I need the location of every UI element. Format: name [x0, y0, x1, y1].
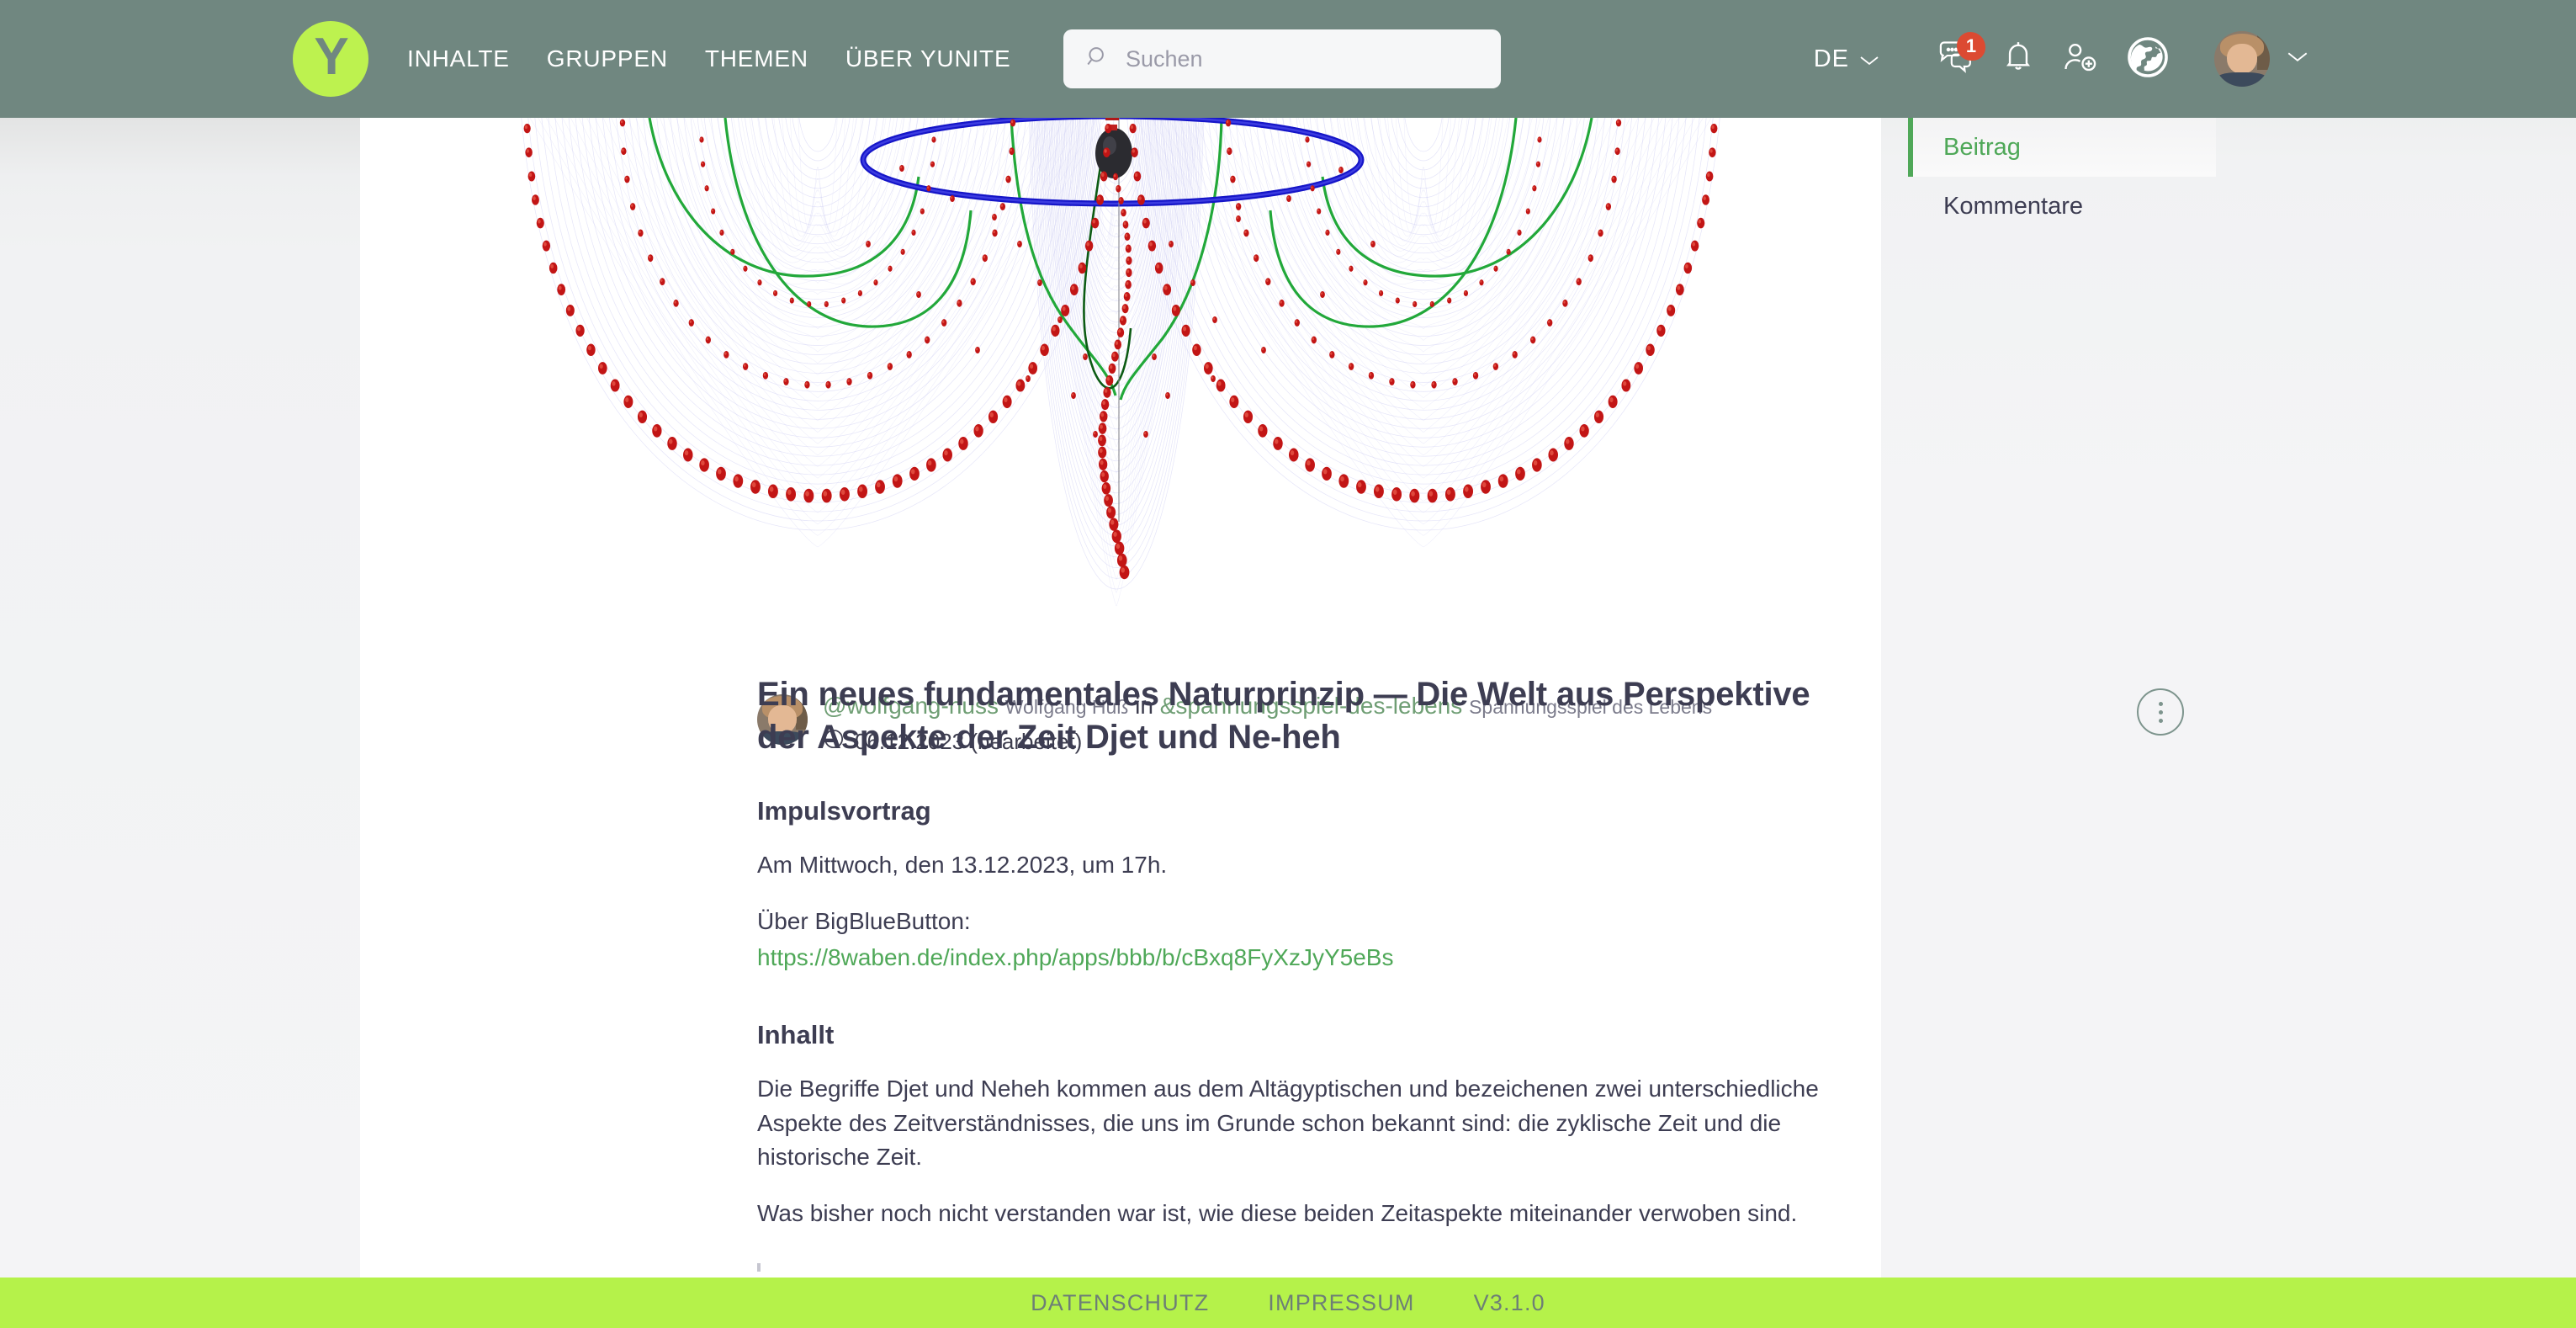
paragraph-bbb-link: https://8waben.de/index.php/apps/bbb/b/c…: [757, 941, 1869, 975]
sidebar-item-label: Kommentare: [1943, 193, 2083, 220]
user-menu[interactable]: [2214, 31, 2308, 87]
sidebar-item-label: Beitrag: [1943, 134, 2021, 162]
footer-link-datenschutz[interactable]: DATENSCHUTZ: [1031, 1290, 1209, 1316]
paragraph-verwoben: Was bisher noch nicht verstanden war ist…: [757, 1197, 1869, 1231]
chevron-down-icon: [1859, 45, 1879, 73]
post-content-card: @wolfgang-huss Wolfgang Huß in &spannung…: [360, 118, 1881, 1294]
footer-version: V3.1.0: [1474, 1290, 1545, 1316]
post-image: [360, 118, 1881, 619]
notifications-button[interactable]: [1987, 0, 2049, 118]
logo-glyph: Y: [314, 31, 347, 83]
search-icon: [1085, 45, 1110, 74]
sidebar-item-beitrag[interactable]: Beitrag: [1908, 118, 2216, 177]
messages-badge: 1: [1957, 32, 1985, 61]
nav-inhalte[interactable]: INHALTE: [407, 45, 510, 72]
post-article: Ein neues fundamentales Naturprinzip — D…: [757, 673, 1869, 1328]
globe-icon: [2126, 35, 2170, 83]
heading-impulsvortrag: Impulsvortrag: [757, 796, 1869, 826]
post-more-options-button[interactable]: [2137, 688, 2184, 736]
sidebar-item-kommentare[interactable]: Kommentare: [1908, 177, 2245, 236]
left-gutter: [0, 118, 360, 1294]
bell-icon: [2004, 40, 2033, 78]
chevron-down-icon: [2287, 50, 2308, 67]
add-contact-button[interactable]: [2049, 0, 2112, 118]
heading-inhalt: Inhallt: [757, 1020, 1869, 1050]
page-title: Ein neues fundamentales Naturprinzip — D…: [757, 673, 1869, 759]
visualization-svg: [360, 118, 1881, 619]
site-footer: DATENSCHUTZ IMPRESSUM V3.1.0: [0, 1278, 2576, 1328]
search-box[interactable]: [1063, 29, 1501, 88]
globe-button[interactable]: [2112, 0, 2184, 118]
add-user-icon: [2063, 41, 2098, 77]
paragraph-djet-neheh: Die Begriffe Djet und Neheh kommen aus d…: [757, 1072, 1869, 1175]
page-body: @wolfgang-huss Wolfgang Huß in &spannung…: [0, 118, 2576, 1294]
main-nav: INHALTE GRUPPEN THEMEN ÜBER YUNITE: [407, 0, 1010, 118]
paragraph-bbb-label: Über BigBlueButton:: [757, 905, 1869, 939]
footer-link-impressum[interactable]: IMPRESSUM: [1268, 1290, 1414, 1316]
header-actions: DE 1: [1814, 0, 2308, 118]
nav-ueber-yunite[interactable]: ÜBER YUNITE: [845, 45, 1011, 72]
messages-button[interactable]: 1: [1925, 0, 1987, 118]
post-sidebar: Beitrag Kommentare: [1908, 118, 2245, 236]
nav-themen[interactable]: THEMEN: [705, 45, 808, 72]
yunite-logo[interactable]: Y: [293, 21, 368, 97]
top-header: Y INHALTE GRUPPEN THEMEN ÜBER YUNITE DE: [0, 0, 2576, 118]
nav-gruppen[interactable]: GRUPPEN: [547, 45, 668, 72]
language-selector[interactable]: DE: [1814, 0, 1879, 118]
language-label: DE: [1814, 45, 1849, 73]
avatar[interactable]: [2214, 31, 2270, 87]
search-input[interactable]: [1126, 46, 1462, 72]
bbb-link[interactable]: https://8waben.de/index.php/apps/bbb/b/c…: [757, 944, 1393, 970]
paragraph-termin: Am Mittwoch, den 13.12.2023, um 17h.: [757, 848, 1869, 883]
